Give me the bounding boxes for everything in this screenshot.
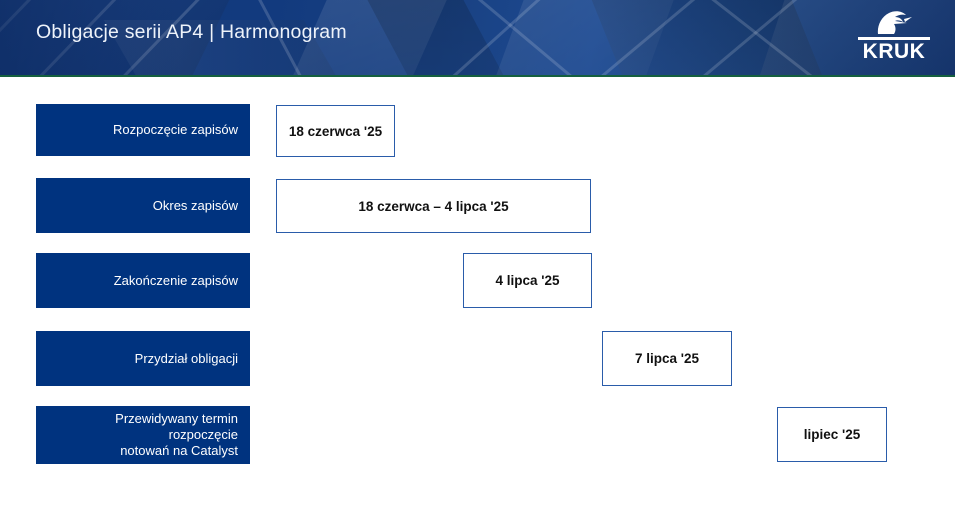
timeline-date-text: 18 czerwca – 4 lipca '25 [358,199,508,214]
timeline-label-okres-zapisow: Okres zapisów [36,178,250,233]
kruk-raven-icon [874,10,914,36]
timeline-label-zakonczenie-zapisow: Zakończenie zapisów [36,253,250,308]
timeline-label-rozpoczecie-zapisow: Rozpoczęcie zapisów [36,104,250,156]
timeline-label-text: Przydział obligacji [135,351,238,367]
timeline-date-okres-zapisow: 18 czerwca – 4 lipca '25 [276,179,591,233]
banner-underline [0,75,955,77]
timeline-label-line1: Przewidywany termin rozpoczęcie [115,411,238,442]
timeline-date-text: 4 lipca '25 [496,273,560,288]
timeline-label-text: Przewidywany termin rozpoczęcie notowań … [46,411,238,459]
timeline-label-notowania-catalyst: Przewidywany termin rozpoczęcie notowań … [36,406,250,464]
timeline-label-przydzial-obligacji: Przydział obligacji [36,331,250,386]
slide: Obligacje serii AP4 | Harmonogram KRUK R… [0,0,955,515]
timeline-date-zakonczenie-zapisow: 4 lipca '25 [463,253,592,308]
timeline-date-przydzial-obligacji: 7 lipca '25 [602,331,732,386]
page-title: Obligacje serii AP4 | Harmonogram [36,21,347,44]
kruk-logo: KRUK [855,10,933,66]
timeline-label-text: Zakończenie zapisów [114,273,238,289]
timeline-date-notowania-catalyst: lipiec '25 [777,407,887,462]
timeline-date-rozpoczecie-zapisow: 18 czerwca '25 [276,105,395,157]
timeline-label-text: Rozpoczęcie zapisów [113,122,238,138]
timeline-label-text: Okres zapisów [153,198,238,214]
timeline-label-line2: notowań na Catalyst [120,443,238,458]
logo-wordmark: KRUK [863,40,926,63]
timeline-date-text: 7 lipca '25 [635,351,699,366]
timeline-date-text: lipiec '25 [804,427,861,442]
timeline-date-text: 18 czerwca '25 [289,124,382,139]
